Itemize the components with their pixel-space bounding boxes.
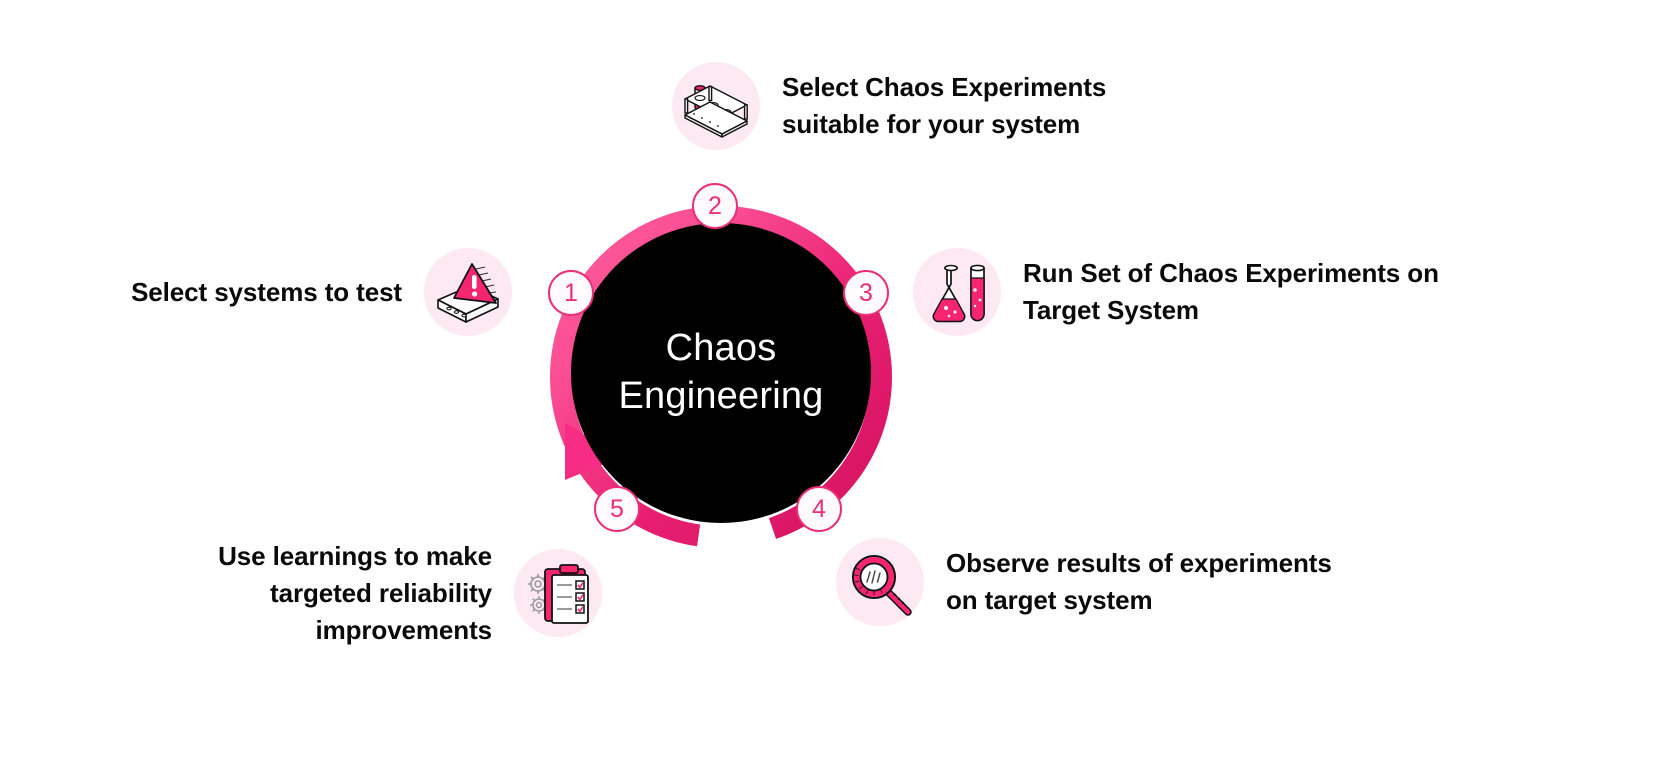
step-label-4: Observe results of experiments on target… bbox=[946, 545, 1416, 619]
step-badge-4[interactable]: 4 bbox=[796, 486, 842, 532]
step-label-5: Use learnings to make targeted reliabili… bbox=[184, 538, 492, 649]
step-label-2: Select Chaos Experiments suitable for yo… bbox=[782, 69, 1152, 143]
step-badge-1[interactable]: 1 bbox=[548, 270, 594, 316]
step-item-5[interactable]: Use learnings to make targeted reliabili… bbox=[184, 538, 602, 649]
step-badge-5[interactable]: 5 bbox=[594, 486, 640, 532]
step-item-1[interactable]: Select systems to test bbox=[94, 248, 512, 336]
step-badge-3-number: 3 bbox=[859, 281, 873, 306]
step-item-4[interactable]: Observe results of experiments on target… bbox=[836, 538, 1416, 626]
step-label-3: Run Set of Chaos Experiments on Target S… bbox=[1023, 255, 1483, 329]
clipboard-checklist-gears-icon bbox=[514, 549, 602, 637]
hub-label: Chaos Engineering bbox=[571, 223, 871, 523]
test-tube-rack-icon bbox=[672, 62, 760, 150]
chaos-engineering-diagram: Chaos Engineering 1 2 3 4 5 bbox=[0, 0, 1674, 765]
step-badge-3[interactable]: 3 bbox=[843, 270, 889, 316]
flask-and-test-tube-icon bbox=[913, 248, 1001, 336]
step-badge-2[interactable]: 2 bbox=[692, 183, 738, 229]
step-item-3[interactable]: Run Set of Chaos Experiments on Target S… bbox=[913, 248, 1483, 336]
magnifier-icon bbox=[836, 538, 924, 626]
step-badge-1-number: 1 bbox=[564, 281, 578, 306]
step-badge-5-number: 5 bbox=[610, 497, 624, 522]
step-item-2[interactable]: Select Chaos Experiments suitable for yo… bbox=[672, 62, 1152, 150]
step-badge-2-number: 2 bbox=[708, 194, 722, 219]
step-label-1: Select systems to test bbox=[100, 274, 402, 311]
server-warning-icon bbox=[424, 248, 512, 336]
step-badge-4-number: 4 bbox=[812, 497, 826, 522]
